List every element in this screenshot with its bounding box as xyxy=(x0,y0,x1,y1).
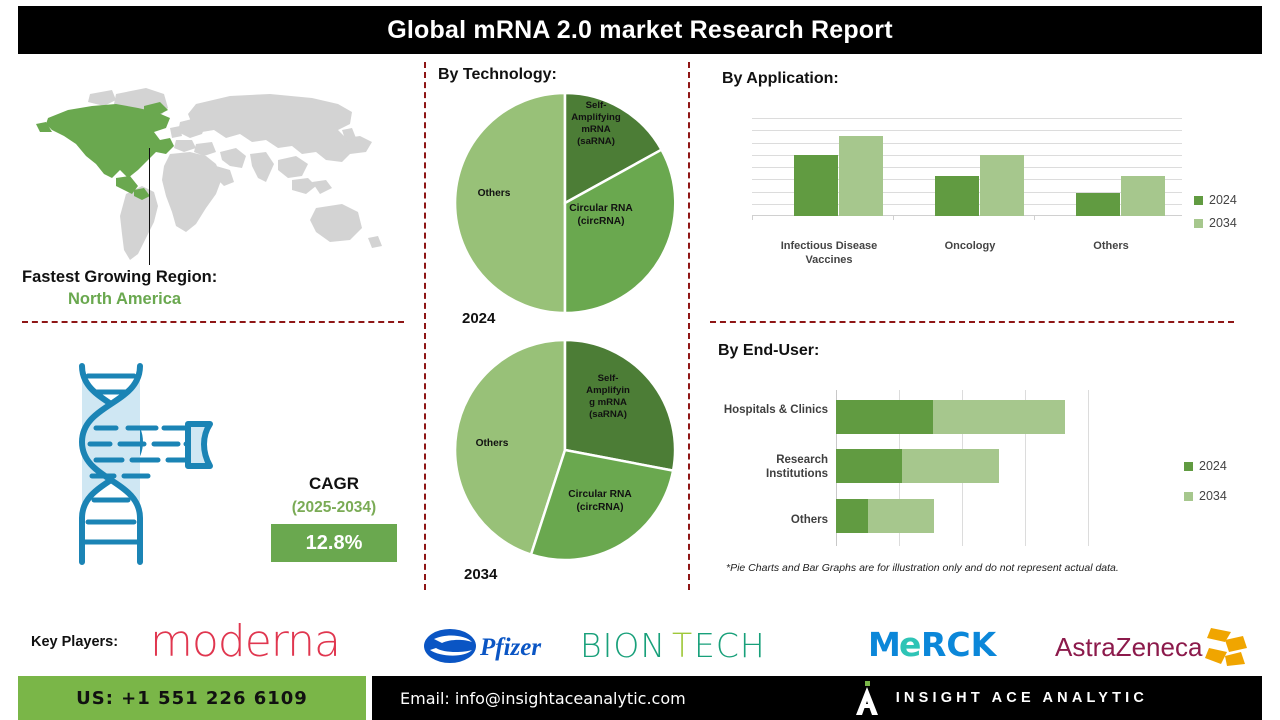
section-title-application: By Application: xyxy=(722,70,839,88)
legend-item-2024: 2024 xyxy=(1194,193,1237,207)
legend-enduser: 2024 2034 xyxy=(1184,459,1227,512)
bar-category-label-oncology: Oncology xyxy=(908,240,1032,254)
footer-email: Email: info@insightaceanalytic.com xyxy=(400,689,686,708)
divider-vertical-middle xyxy=(688,62,690,590)
logo-astrazeneca: AstraZeneca xyxy=(1055,626,1255,675)
cagr-years: (2025-2034) xyxy=(271,499,397,517)
svg-text:AstraZeneca: AstraZeneca xyxy=(1055,632,1203,662)
svg-text:e: e xyxy=(899,626,921,664)
divider-horizontal-left xyxy=(22,321,404,323)
legend-item-enduser-2024: 2024 xyxy=(1184,459,1227,473)
enduser-gridline-4 xyxy=(1088,390,1089,546)
bar-category-label-others: Others xyxy=(1052,240,1170,254)
pie-slice-label-circrna-2024: Circular RNA (circRNA) xyxy=(555,203,647,229)
cagr-value: 12.8% xyxy=(306,532,363,555)
bar-hospitals-2024 xyxy=(836,400,933,434)
cagr-value-box: 12.8% xyxy=(271,524,397,562)
world-map-icon xyxy=(20,82,410,272)
svg-text:ECH: ECH xyxy=(694,628,766,664)
bar-others-2024 xyxy=(1076,193,1120,216)
pie-slice-label-others-2024: Others xyxy=(462,188,526,201)
key-players-label: Key Players: xyxy=(31,634,118,650)
bar-research-2024 xyxy=(836,449,902,483)
bar-oncology-2034 xyxy=(980,155,1024,216)
legend-swatch-2034 xyxy=(1194,219,1203,228)
chart-footnote: *Pie Charts and Bar Graphs are for illus… xyxy=(726,562,1119,574)
svg-text:BION: BION xyxy=(580,628,666,664)
report-header: Global mRNA 2.0 market Research Report xyxy=(18,6,1262,54)
bar-hospitals-2034 xyxy=(933,400,1065,434)
brand-block: INSIGHT ACE ANALYTIC xyxy=(854,681,1148,715)
infographic-root: Global mRNA 2.0 market Research Report xyxy=(0,0,1280,720)
pie-slice-label-others-2034: Others xyxy=(460,438,524,451)
fastest-growing-region-label: Fastest Growing Region: xyxy=(22,268,217,287)
legend-label-2034: 2034 xyxy=(1209,216,1237,230)
map-leader-line xyxy=(149,148,150,265)
footer-phone-bar: US: +1 551 226 6109 xyxy=(18,676,366,720)
logo-biontech: BION T ECH xyxy=(580,628,818,669)
bar-row-label-others-enduser: Others xyxy=(718,513,828,527)
bar-group-oncology xyxy=(935,118,1025,216)
footer-contact-bar: Email: info@insightaceanalytic.com INSIG… xyxy=(372,676,1262,720)
legend-item-enduser-2034: 2034 xyxy=(1184,489,1227,503)
bar-row-label-research: Research Institutions xyxy=(718,453,828,482)
bar-chart-application xyxy=(752,118,1182,216)
logo-merck: M e RCK xyxy=(868,626,1018,669)
legend-label-enduser-2034: 2034 xyxy=(1199,489,1227,503)
legend-swatch-enduser-2034 xyxy=(1184,492,1193,501)
bar-others-enduser-2024 xyxy=(836,499,868,533)
pie-slice-label-sarna-2034: Self- Amplifyin g mRNA (saRNA) xyxy=(575,373,641,421)
svg-text:M: M xyxy=(868,626,901,664)
bar-group-others xyxy=(1076,118,1166,216)
legend-label-enduser-2024: 2024 xyxy=(1199,459,1227,473)
footer-phone: US: +1 551 226 6109 xyxy=(76,688,308,709)
bar-infectious-2034 xyxy=(839,136,883,216)
svg-text:Pfizer: Pfizer xyxy=(479,634,541,661)
bar-others-2034 xyxy=(1121,176,1165,216)
bar-research-2034 xyxy=(902,449,999,483)
svg-text:RCK: RCK xyxy=(921,626,998,664)
cagr-title: CAGR xyxy=(271,474,397,494)
pie-slice-label-sarna-2024: Self- Amplifying mRNA (saRNA) xyxy=(561,100,631,148)
logo-pfizer: Pfizer xyxy=(424,626,556,671)
fastest-growing-region-value: North America xyxy=(68,290,181,309)
bar-oncology-2024 xyxy=(935,176,979,216)
logo-moderna: moderna xyxy=(150,616,340,667)
pie-year-2034: 2034 xyxy=(464,566,497,583)
bar-chart-enduser xyxy=(836,396,1088,540)
bar-category-label-infectious: Infectious Disease Vaccines xyxy=(760,240,898,268)
bar-row-label-hospitals: Hospitals & Clinics xyxy=(718,403,828,417)
section-title-enduser: By End-User: xyxy=(718,342,819,360)
legend-swatch-enduser-2024 xyxy=(1184,462,1193,471)
brand-name: INSIGHT ACE ANALYTIC xyxy=(896,690,1148,706)
insight-ace-logo-icon xyxy=(854,681,880,715)
page-title: Global mRNA 2.0 market Research Report xyxy=(387,16,892,45)
bar-infectious-2024 xyxy=(794,155,838,216)
svg-text:T: T xyxy=(672,628,693,664)
divider-vertical-left xyxy=(424,62,426,590)
pie-slice-label-circrna-2034: Circular RNA (circRNA) xyxy=(554,489,646,515)
section-title-technology: By Technology: xyxy=(438,66,557,84)
bar-group-infectious-disease-vaccines xyxy=(794,118,884,216)
bar-others-enduser-2034 xyxy=(868,499,934,533)
legend-item-2034: 2034 xyxy=(1194,216,1237,230)
legend-application: 2024 2034 xyxy=(1194,193,1237,239)
legend-label-2024: 2024 xyxy=(1209,193,1237,207)
divider-horizontal-right xyxy=(710,321,1234,323)
pie-year-2024: 2024 xyxy=(462,310,495,327)
legend-swatch-2024 xyxy=(1194,196,1203,205)
dna-helix-icon xyxy=(52,352,237,577)
